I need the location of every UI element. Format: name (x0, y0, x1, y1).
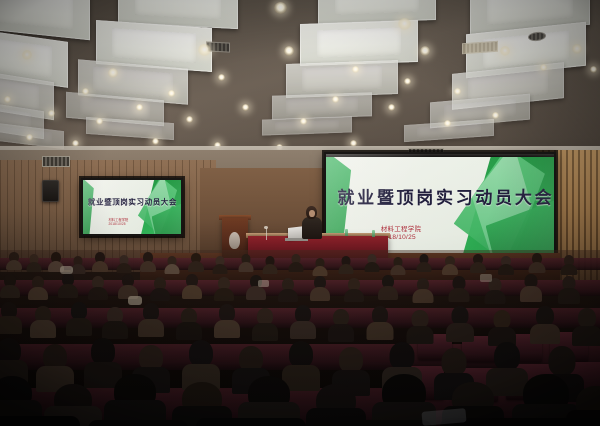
audience-person (442, 256, 458, 275)
ceiling-spotlight (404, 78, 411, 85)
person-shoulders (448, 288, 469, 302)
ceiling-spotlight (218, 74, 225, 81)
ceiling-spotlight (136, 104, 143, 111)
person-shoulders (558, 288, 580, 304)
side-projection-screen: 就业暨顶岗实习动员大会 材料工程学院 2018/10/25 (81, 178, 183, 236)
audience-person (520, 274, 542, 302)
person-shoulders (484, 290, 505, 304)
ceiling-spotlight (300, 118, 307, 125)
ceiling-spotlight (242, 104, 249, 111)
person-head (390, 342, 415, 370)
audience-person (366, 306, 393, 340)
person-shoulders (92, 261, 108, 272)
person-head (494, 342, 520, 371)
person-shoulders (30, 320, 56, 338)
ceiling-spotlight (572, 44, 582, 54)
ceiling-spotlight (454, 88, 461, 95)
person-shoulders (238, 262, 253, 272)
side-slide-date: 2018/10/25 (108, 222, 128, 226)
audience-person-foreground (0, 416, 80, 426)
ceiling-spotlight (48, 110, 55, 117)
ceiling-spotlight (284, 46, 294, 56)
audience-person (498, 256, 514, 275)
screen-top-frame (326, 154, 554, 157)
microphone-head (264, 226, 268, 229)
person-shoulders (214, 320, 240, 338)
audience-person (412, 278, 433, 303)
person-shoulders (28, 287, 48, 300)
person-shoulders (310, 287, 330, 301)
person-shoulders (446, 323, 474, 342)
person-shoulders (288, 262, 303, 272)
ceiling-spotlight (274, 2, 287, 14)
person-shoulders (6, 260, 22, 270)
audience-person (214, 277, 234, 301)
side-slide: 就业暨顶岗实习动员大会 材料工程学院 2018/10/25 (83, 180, 181, 234)
person-shoulders (214, 288, 234, 301)
person-shoulders (196, 418, 306, 426)
person-shoulders (366, 322, 393, 340)
audience-person (448, 276, 469, 302)
audience-person (66, 302, 92, 336)
audience-person (252, 308, 278, 341)
audience-person (406, 310, 433, 344)
audience-light-garment (60, 266, 73, 274)
audience-person (138, 303, 164, 337)
person-shoulders (470, 262, 486, 273)
person-shoulders (328, 324, 354, 342)
audience-light-garment (258, 280, 269, 287)
audience-person (214, 304, 240, 338)
audience-person (188, 253, 204, 272)
person-shoulders (0, 416, 80, 426)
audience-person (528, 253, 545, 273)
person-shoulders (26, 262, 41, 272)
ceiling-spotlight (352, 66, 359, 73)
person-shoulders (212, 264, 227, 274)
audience-person (378, 275, 398, 300)
ceiling-spotlight (186, 116, 193, 123)
person-shoulders (278, 289, 298, 302)
audience-person (88, 276, 108, 300)
audience-light-garment (128, 296, 142, 305)
water-bottle (345, 229, 348, 236)
audience-person (176, 308, 202, 340)
audience-person (212, 256, 227, 274)
person-shoulders (528, 262, 545, 273)
audience-person (278, 278, 298, 302)
person-shoulders (442, 264, 458, 275)
person-shoulders (88, 420, 188, 426)
audience-area (0, 250, 600, 426)
audience-person (26, 254, 41, 272)
audience-person (416, 254, 431, 272)
presenter-face (309, 210, 315, 217)
audience-person (30, 306, 56, 338)
person-shoulders (338, 264, 353, 274)
ceiling-coffer (286, 60, 398, 98)
ceiling-spotlight (96, 118, 103, 125)
person-shoulders (58, 284, 78, 298)
audience-person-foreground (104, 374, 166, 426)
person-head (549, 346, 576, 376)
person-shoulders (290, 321, 316, 339)
water-bottle (372, 230, 375, 237)
audience-person (560, 255, 577, 275)
ceiling-coffer (272, 92, 372, 119)
person-shoulders (520, 286, 542, 302)
audience-person (246, 275, 266, 300)
person-shoulders (116, 263, 131, 273)
side-slide-title: 就业暨顶岗实习动员大会 (88, 196, 177, 207)
person-head (578, 308, 596, 328)
audience-person (446, 306, 474, 342)
ceiling-spotlight (590, 66, 597, 73)
person-shoulders (188, 261, 204, 272)
audience-person (238, 254, 253, 272)
audience-person (58, 273, 78, 298)
audience-person (92, 252, 108, 272)
audience-person (0, 302, 22, 334)
auditorium-photo: 就业暨顶岗实习动员大会 材料工程学院 2018/10/25 就业暨顶岗实习动员大… (0, 0, 600, 426)
audience-person (364, 254, 379, 272)
person-head (91, 338, 115, 365)
person-shoulders (262, 264, 277, 274)
ceiling-spotlight (4, 96, 11, 103)
person-shoulders (164, 264, 179, 274)
person-shoulders (0, 285, 20, 298)
person-shoulders (182, 285, 202, 299)
ceiling-spotlight (108, 68, 118, 78)
audience-person (390, 257, 405, 275)
ceiling-spotlight (540, 64, 547, 71)
ceiling-spotlight (388, 104, 395, 111)
person-shoulders (572, 326, 600, 346)
audience-person (558, 276, 580, 304)
audience-person-foreground (196, 418, 306, 426)
person-shoulders (498, 264, 514, 275)
audience-person (310, 276, 330, 301)
audience-person-foreground (88, 420, 188, 426)
audience-person (470, 254, 486, 273)
audience-person (488, 310, 516, 346)
person-shoulders (312, 266, 327, 276)
person-shoulders (416, 262, 431, 272)
audience-person (262, 256, 277, 274)
audience-person-foreground (312, 420, 432, 426)
audience-person (530, 306, 560, 344)
audience-person (328, 309, 354, 342)
audience-person (344, 278, 364, 302)
audience-person (290, 305, 316, 339)
wall-loudspeaker (42, 180, 59, 202)
person-head (189, 340, 213, 367)
ceiling-spotlight (398, 18, 411, 30)
person-shoulders (390, 265, 405, 275)
ceiling-coffer (262, 116, 352, 135)
person-shoulders (66, 318, 92, 336)
person-head (442, 348, 467, 376)
ceiling-spotlight (500, 46, 510, 56)
lectern-emblem (229, 232, 240, 249)
ceiling-spotlight (82, 88, 89, 95)
audience-person (116, 255, 131, 273)
person-shoulders (560, 264, 577, 275)
audience-person (312, 258, 327, 276)
ceiling-spotlight (26, 134, 33, 141)
ceiling-spotlight (22, 50, 32, 60)
audience-person (288, 254, 303, 272)
person-shoulders (0, 316, 22, 334)
person-shoulders (412, 289, 433, 303)
person-shoulders (344, 289, 364, 302)
ceiling-spotlight (168, 90, 175, 97)
person-shoulders (378, 286, 398, 300)
ceiling-spotlight (444, 120, 451, 127)
ceiling-spotlight (198, 44, 211, 56)
wall-vent (42, 156, 70, 167)
person-shoulders (176, 322, 202, 340)
person-head (536, 306, 554, 326)
microphone-stand (266, 228, 267, 240)
audience-light-garment (480, 274, 492, 282)
ceiling-spotlight (420, 46, 430, 56)
audience-person (6, 252, 22, 270)
audience-person (338, 256, 353, 274)
person-shoulders (140, 261, 156, 272)
main-slide-title: 就业暨顶岗实习动员大会 (337, 184, 554, 209)
person-head (289, 341, 313, 368)
audience-person (0, 274, 20, 298)
side-slide-subtitle: 材料工程学院 2018/10/25 (108, 218, 128, 226)
person-shoulders (252, 323, 278, 341)
audience-person (572, 308, 600, 346)
person-shoulders (138, 319, 164, 337)
person-shoulders (88, 287, 108, 300)
person-shoulders (150, 288, 170, 301)
ceiling-spotlight (492, 112, 499, 119)
audience-person (182, 274, 202, 299)
ceiling-spotlight (152, 138, 159, 145)
person-shoulders (312, 420, 432, 426)
audience-person (28, 276, 48, 300)
audience-person (140, 252, 156, 272)
audience-person (102, 307, 128, 339)
ceiling-spotlight (332, 96, 339, 103)
audience-person (150, 277, 170, 301)
person-shoulders (364, 262, 379, 272)
person-shoulders (246, 286, 266, 300)
person-shoulders (530, 324, 560, 344)
presenter-body (302, 217, 322, 239)
audience-person (164, 256, 179, 274)
person-shoulders (102, 321, 128, 339)
